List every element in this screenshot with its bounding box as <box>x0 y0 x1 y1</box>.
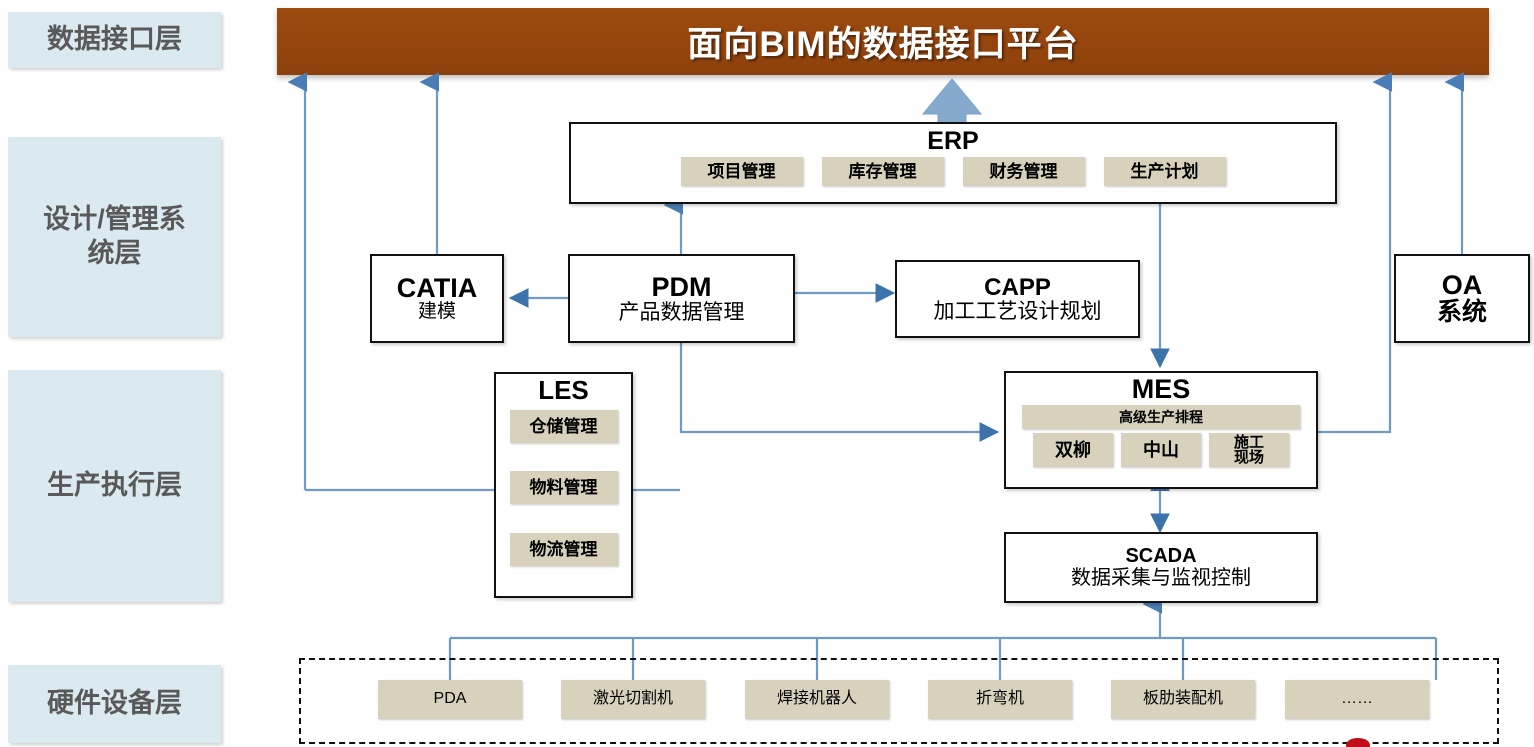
device-bending-machine[interactable]: 折弯机 <box>928 680 1072 719</box>
layer-label-text: 生产执行层 <box>47 469 182 503</box>
node-pdm-subtitle: 产品数据管理 <box>570 301 793 324</box>
mes-site-zhongshan[interactable]: 中山 <box>1121 433 1201 467</box>
chip-label: 施工 现场 <box>1234 435 1264 465</box>
node-oa[interactable]: OA 系统 <box>1394 254 1530 343</box>
node-scada[interactable]: SCADA 数据采集与监视控制 <box>1004 532 1318 603</box>
les-module-material[interactable]: 物料管理 <box>510 471 618 504</box>
erp-module-production-plan[interactable]: 生产计划 <box>1104 157 1226 186</box>
node-les-title: LES <box>496 377 631 404</box>
node-scada-title: SCADA <box>1006 546 1316 567</box>
node-capp-title: CAPP <box>897 275 1138 300</box>
node-oa-title: OA <box>1396 271 1528 299</box>
chip-label: 折弯机 <box>976 691 1024 708</box>
chip-label: 焊接机器人 <box>777 691 857 708</box>
node-capp-subtitle: 加工工艺设计规划 <box>897 300 1138 323</box>
node-mes[interactable]: MES 高级生产排程 双柳 中山 施工 现场 <box>1004 371 1318 489</box>
layer-label-text: 数据接口层 <box>47 23 182 57</box>
device-pda[interactable]: PDA <box>378 680 522 719</box>
chip-label: 激光切割机 <box>593 691 673 708</box>
chip-label: PDA <box>434 691 467 708</box>
node-catia-title: CATIA <box>372 274 502 302</box>
layer-label-text: 硬件设备层 <box>47 687 182 721</box>
les-module-logistics[interactable]: 物流管理 <box>510 533 618 566</box>
node-les[interactable]: LES 仓储管理 物料管理 物流管理 <box>494 372 633 598</box>
chip-label: …… <box>1341 691 1373 708</box>
device-more[interactable]: …… <box>1285 680 1429 719</box>
layer-label-hardware-device: 硬件设备层 <box>8 665 221 743</box>
layer-label-data-interface: 数据接口层 <box>8 12 221 68</box>
erp-module-finance[interactable]: 财务管理 <box>963 157 1085 186</box>
node-catia-subtitle: 建模 <box>372 302 502 323</box>
layer-label-production-execution: 生产执行层 <box>8 370 221 602</box>
chip-label: 高级生产排程 <box>1119 410 1203 425</box>
platform-banner: 面向BIM的数据接口平台 <box>277 8 1489 75</box>
node-capp[interactable]: CAPP 加工工艺设计规划 <box>895 260 1140 338</box>
node-pdm-title: PDM <box>570 273 793 301</box>
layer-label-design-management: 设计/管理系 统层 <box>8 137 221 337</box>
chip-label: 物料管理 <box>530 479 598 497</box>
node-pdm[interactable]: PDM 产品数据管理 <box>568 254 795 343</box>
node-erp-title: ERP <box>571 128 1335 154</box>
device-rib-assembly-machine[interactable]: 板肋装配机 <box>1111 680 1255 719</box>
mes-site-shuangliu[interactable]: 双柳 <box>1033 433 1113 467</box>
mes-site-construction[interactable]: 施工 现场 <box>1209 433 1289 467</box>
platform-banner-title: 面向BIM的数据接口平台 <box>687 16 1078 67</box>
node-erp[interactable]: ERP 项目管理 库存管理 财务管理 生产计划 <box>569 122 1337 204</box>
les-module-warehouse[interactable]: 仓储管理 <box>510 410 618 443</box>
chip-label: 板肋装配机 <box>1143 691 1223 708</box>
chip-label: 项目管理 <box>708 163 776 181</box>
node-oa-subtitle: 系统 <box>1396 299 1528 327</box>
red-watermark-mark <box>1346 738 1370 747</box>
chip-label: 物流管理 <box>530 541 598 559</box>
chip-label: 双柳 <box>1055 441 1091 460</box>
erp-module-inventory[interactable]: 库存管理 <box>822 157 944 186</box>
chip-label: 生产计划 <box>1131 163 1199 181</box>
chip-label: 财务管理 <box>990 163 1058 181</box>
mes-module-advanced-scheduling[interactable]: 高级生产排程 <box>1022 405 1300 429</box>
device-welding-robot[interactable]: 焊接机器人 <box>745 680 889 719</box>
chip-label: 库存管理 <box>849 163 917 181</box>
node-mes-title: MES <box>1006 375 1316 403</box>
device-laser-cutter[interactable]: 激光切割机 <box>561 680 705 719</box>
erp-module-project[interactable]: 项目管理 <box>681 157 803 186</box>
node-scada-subtitle: 数据采集与监视控制 <box>1006 567 1316 589</box>
layer-label-text: 设计/管理系 统层 <box>43 203 186 271</box>
architecture-diagram: 面向BIM的数据接口平台 数据接口层 设计/管理系 统层 生产执行层 硬件设备层 <box>0 0 1534 747</box>
chip-label: 仓储管理 <box>530 418 598 436</box>
node-catia[interactable]: CATIA 建模 <box>370 254 504 343</box>
chip-label: 中山 <box>1143 441 1179 460</box>
